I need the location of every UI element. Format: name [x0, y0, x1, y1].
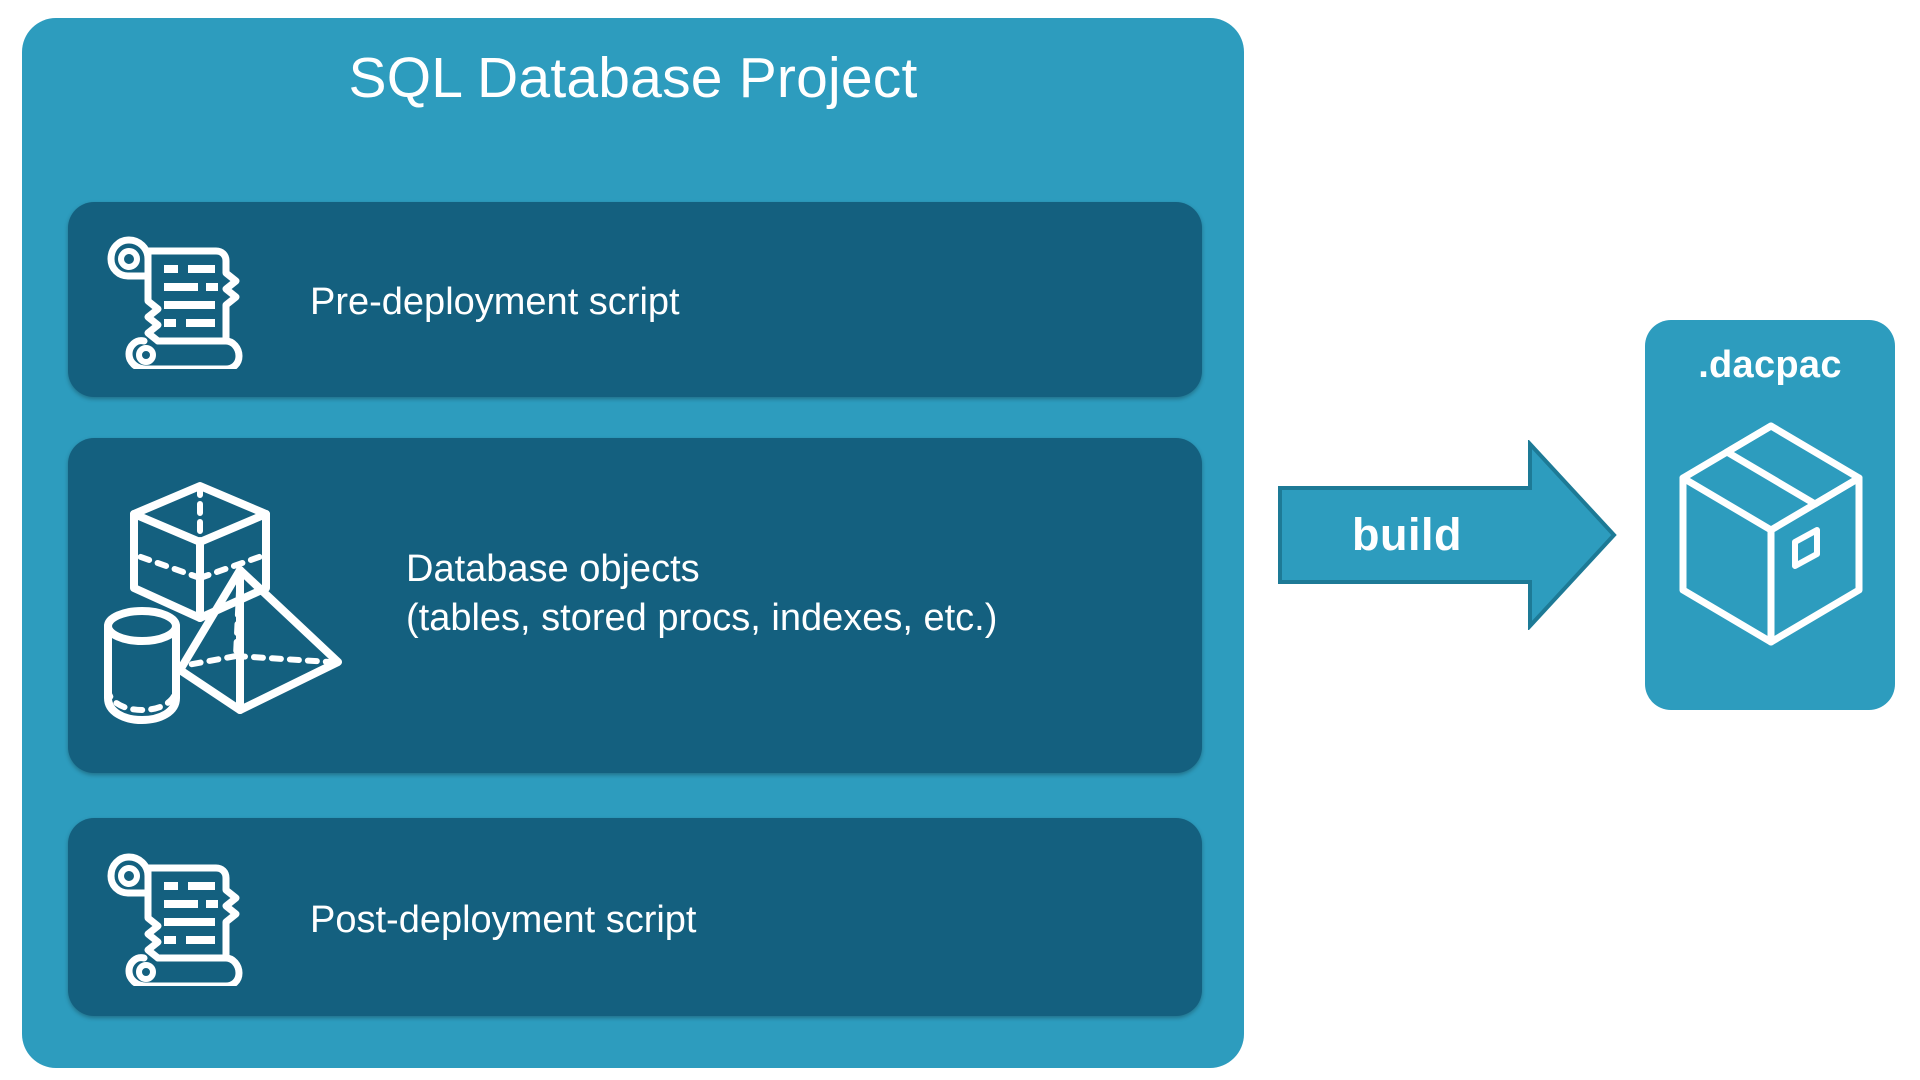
card-post-deployment[interactable]: Post-deployment script	[68, 818, 1202, 1016]
card-post-deployment-label: Post-deployment script	[310, 896, 697, 945]
card-pre-deployment[interactable]: Pre-deployment script	[68, 202, 1202, 397]
package-box-icon	[1671, 408, 1871, 678]
diagram-canvas: SQL Database Project	[0, 0, 1920, 1080]
shapes-icon	[90, 466, 380, 751]
scroll-icon	[102, 846, 262, 991]
scroll-icon	[102, 229, 262, 374]
arrow-right-icon	[1278, 440, 1618, 630]
card-database-objects[interactable]: Database objects (tables, stored procs, …	[68, 438, 1202, 773]
dacpac-output-card[interactable]: .dacpac	[1645, 320, 1895, 710]
card-database-objects-label: Database objects (tables, stored procs, …	[406, 545, 997, 644]
sql-database-project-panel: SQL Database Project	[22, 18, 1244, 1068]
page-title: SQL Database Project	[22, 46, 1244, 112]
card-pre-deployment-label: Pre-deployment script	[310, 278, 680, 327]
dacpac-title: .dacpac	[1645, 344, 1895, 387]
